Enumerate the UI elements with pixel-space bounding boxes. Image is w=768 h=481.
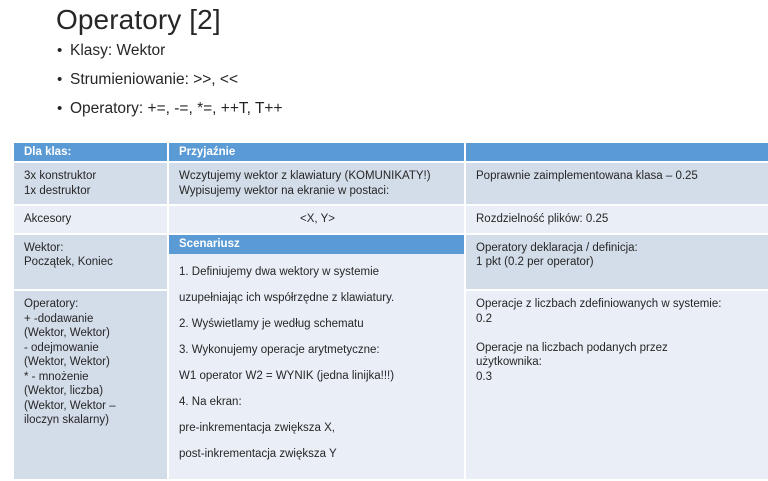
cell-line: post-inkrementacja zwiększa Y xyxy=(179,447,456,462)
cell-scenariusz: Scenariusz 1. Definiujemy dwa wektory w … xyxy=(168,234,465,481)
table-header-cell-przyjaznie: Przyjaźnie xyxy=(168,143,465,162)
cell-line: 3. Wykonujemy operacje arytmetyczne: xyxy=(179,343,456,358)
bullet-item: • Klasy: Wektor xyxy=(57,42,657,71)
cell-line: 4. Na ekran: xyxy=(179,395,456,410)
cell-line: iloczyn skalarny) xyxy=(24,413,159,428)
bullet-text: Strumieniowanie: >>, << xyxy=(70,71,238,89)
slide-title: Operatory [2] xyxy=(56,2,221,38)
table-header-cell-empty xyxy=(465,143,768,162)
cell-line: 1 pkt (0.2 per operator) xyxy=(476,255,760,270)
cell-line: Rozdzielność plików: 0.25 xyxy=(476,212,760,227)
bullet-text: Klasy: Wektor xyxy=(70,42,165,60)
cell-line: Wypisujemy wektor na ekranie w postaci: xyxy=(179,184,456,199)
table-header-row: Dla klas: Przyjaźnie xyxy=(14,143,768,162)
cell-line: Początek, Koniec xyxy=(24,255,159,270)
cell-line: Operacje z liczbach zdefiniowanych w sys… xyxy=(476,297,760,312)
cell-line: (Wektor, Wektor) xyxy=(24,326,159,341)
cell-line: Operacje na liczbach podanych przez xyxy=(476,341,760,356)
cell-line: Wektor: xyxy=(24,241,159,256)
cell-line: 2. Wyświetlamy je według schematu xyxy=(179,317,456,332)
cell-line: * - mnożenie xyxy=(24,370,159,385)
cell-wczytujemy-wypisujemy: Wczytujemy wektor z klawiatury (KOMUNIKA… xyxy=(168,162,465,205)
cell-line: - odejmowanie xyxy=(24,341,159,356)
table-header-cell-dla-klas: Dla klas: xyxy=(14,143,168,162)
cell-line: 1x destruktor xyxy=(24,184,159,199)
cell-line: 1. Definiujemy dwa wektory w systemie xyxy=(179,265,456,280)
bullet-dot-icon: • xyxy=(57,72,70,87)
cell-xy-format: <X, Y> xyxy=(168,205,465,234)
cell-line: 3x konstruktor xyxy=(24,169,159,184)
cell-operatory-deklaracja: Operatory deklaracja / definicja: 1 pkt … xyxy=(465,234,768,291)
table-row: 3x konstruktor 1x destruktor Wczytujemy … xyxy=(14,162,768,205)
cell-line: 0.3 xyxy=(476,370,760,385)
cell-line: + -dodawanie xyxy=(24,312,159,327)
scenariusz-subheader: Scenariusz xyxy=(169,235,464,254)
cell-line: (Wektor, liczba) xyxy=(24,384,159,399)
bullet-list: • Klasy: Wektor • Strumieniowanie: >>, <… xyxy=(57,42,657,129)
cell-line-spacer xyxy=(476,326,760,341)
cell-line: (Wektor, Wektor – xyxy=(24,399,159,414)
cell-wektor-poczatek-koniec: Wektor: Początek, Koniec xyxy=(14,234,168,291)
cell-line: Operatory deklaracja / definicja: xyxy=(476,241,760,256)
cell-line: użytkownika: xyxy=(476,355,760,370)
cell-line: uzupełniając ich współrzędne z klawiatur… xyxy=(179,291,456,306)
cell-line: W1 operator W2 = WYNIK (jedna linijka!!!… xyxy=(179,369,456,384)
cell-line: Akcesory xyxy=(24,212,159,227)
bullet-dot-icon: • xyxy=(57,43,70,58)
scenariusz-body: 1. Definiujemy dwa wektory w systemie uz… xyxy=(169,265,464,479)
cell-konstruktor-destruktor: 3x konstruktor 1x destruktor xyxy=(14,162,168,205)
bullet-item: • Strumieniowanie: >>, << xyxy=(57,71,657,100)
requirements-table: Dla klas: Przyjaźnie 3x konstruktor 1x d… xyxy=(14,143,768,481)
cell-line: pre-inkrementacja zwiększa X, xyxy=(179,421,456,436)
bullet-text: Operatory: +=, -=, *=, ++T, T++ xyxy=(70,100,283,118)
table-row: Wektor: Początek, Koniec Scenariusz 1. D… xyxy=(14,234,768,291)
cell-line: <X, Y> xyxy=(179,212,456,227)
cell-line: (Wektor, Wektor) xyxy=(24,355,159,370)
bullet-item: • Operatory: +=, -=, *=, ++T, T++ xyxy=(57,100,657,129)
cell-operatory-lista: Operatory: + -dodawanie (Wektor, Wektor)… xyxy=(14,290,168,480)
cell-akcesory: Akcesory xyxy=(14,205,168,234)
cell-poprawnie-klasa: Poprawnie zaimplementowana klasa – 0.25 xyxy=(465,162,768,205)
cell-line: Operatory: xyxy=(24,297,159,312)
cell-line: Poprawnie zaimplementowana klasa – 0.25 xyxy=(476,169,760,184)
cell-line: Wczytujemy wektor z klawiatury (KOMUNIKA… xyxy=(179,169,456,184)
cell-rozdzielnosc-plikow: Rozdzielność plików: 0.25 xyxy=(465,205,768,234)
cell-line: 0.2 xyxy=(476,312,760,327)
table-row: Akcesory <X, Y> Rozdzielność plików: 0.2… xyxy=(14,205,768,234)
cell-operacje-punktacja: Operacje z liczbach zdefiniowanych w sys… xyxy=(465,290,768,480)
bullet-dot-icon: • xyxy=(57,101,70,116)
